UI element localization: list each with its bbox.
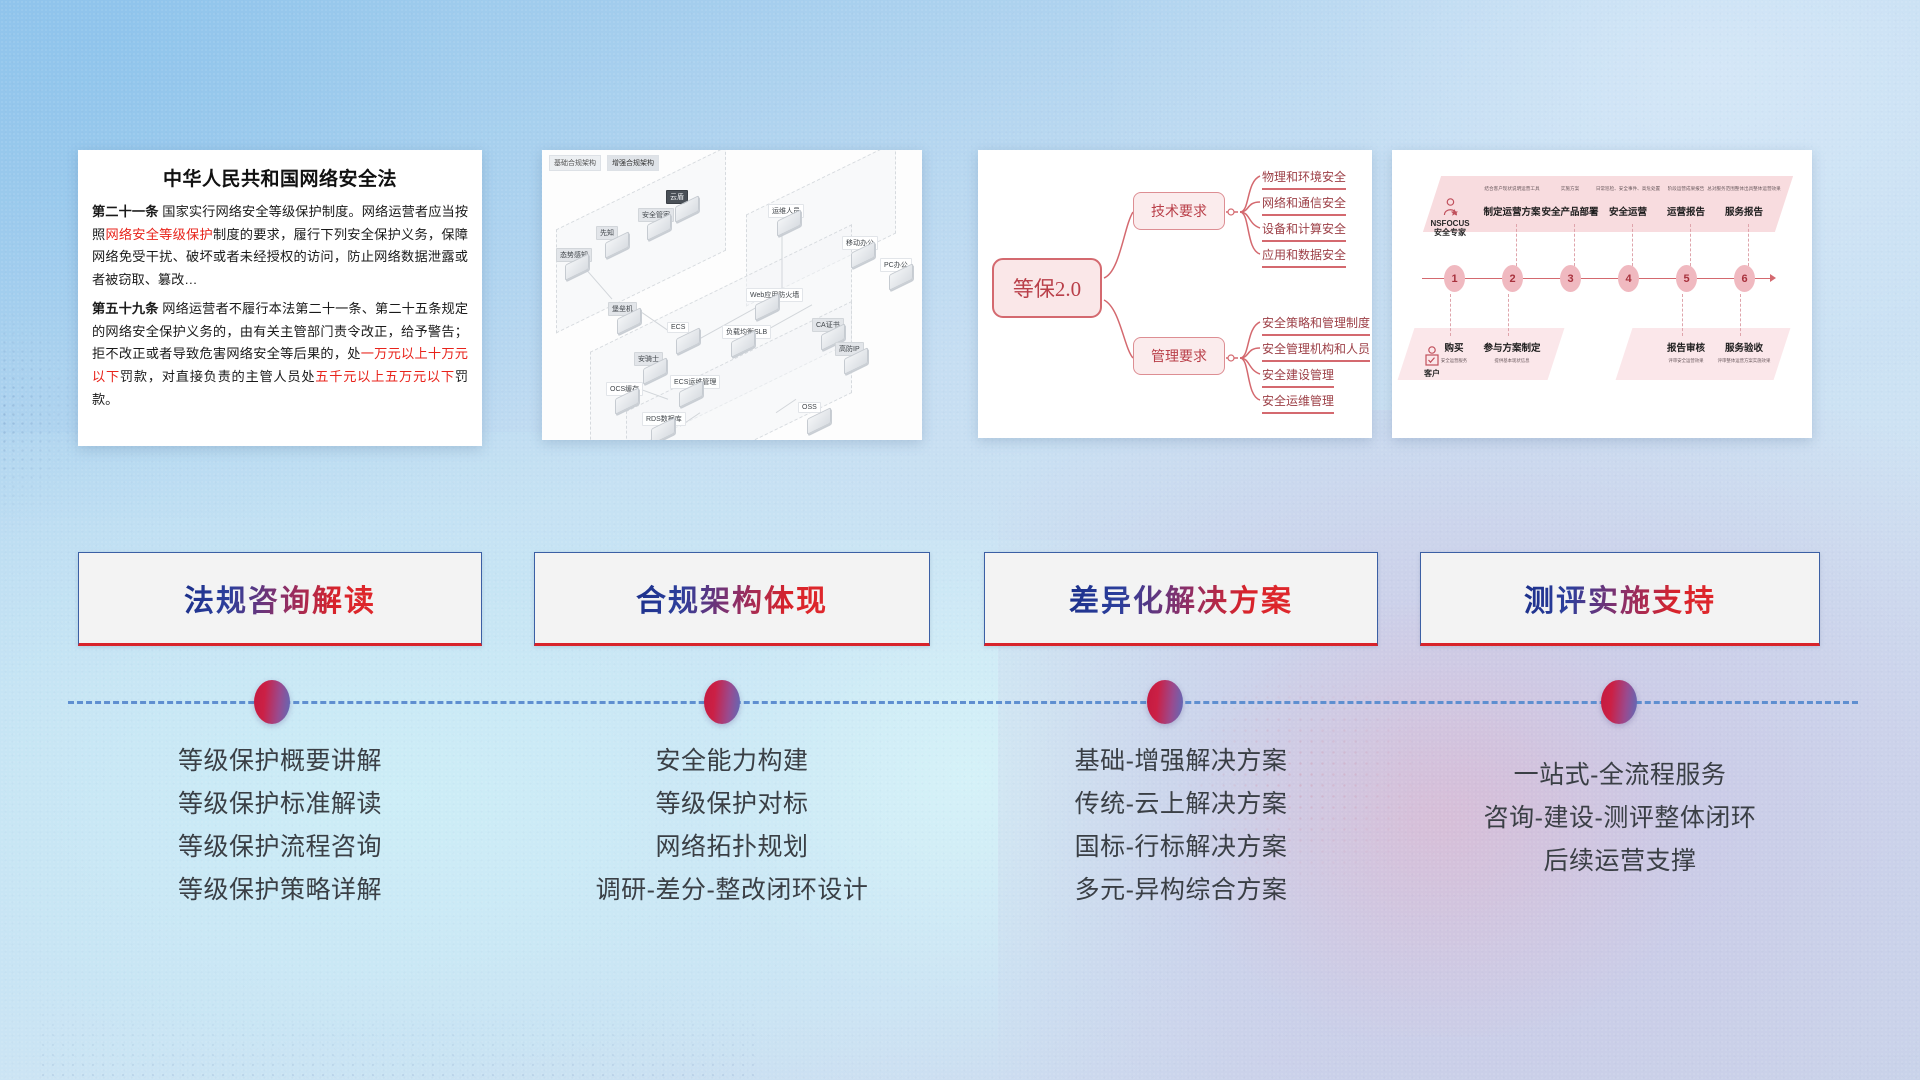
- nsfocus-step-top-sublabel: 日常巡检、安全事件、高危处置: [1596, 186, 1660, 192]
- architecture-node: OCS缓存: [606, 382, 639, 409]
- architecture-node: OSS: [798, 402, 831, 429]
- nsfocus-step-marker-6[interactable]: 6: [1734, 265, 1755, 292]
- architecture-tab-2[interactable]: 增强合规架构: [607, 155, 659, 171]
- timeline-dot-2[interactable]: [704, 680, 740, 724]
- section-item: 调研-差分-整改闭环设计: [534, 869, 930, 912]
- nsfocus-step-top-label: 安全运营: [1609, 204, 1647, 218]
- nsfocus-timeline-axis: [1422, 278, 1772, 279]
- customer-person-icon: [1423, 346, 1441, 366]
- architecture-node-label: OSS: [798, 402, 821, 413]
- nsfocus-step-top-label: 服务报告: [1725, 204, 1763, 218]
- section-item: 等级保护概要讲解: [78, 740, 482, 783]
- nsfocus-step-bottom-label: 参与方案制定: [1483, 340, 1540, 354]
- nsfocus-step-connector-bottom: [1450, 294, 1451, 336]
- nsfocus-timeline-arrow-icon: [1770, 274, 1776, 282]
- law-highlight-text: 网络安全等级保护: [105, 227, 213, 242]
- architecture-canvas: 态势感知先知安全管家堡垒机云盾运维人员移动办公PC办公Web应用防火墙CA证书高…: [550, 170, 914, 432]
- timeline-dashed-line: [68, 701, 1858, 704]
- mindmap-leaf: 安全运维管理: [1262, 392, 1334, 414]
- nsfocus-step-connector-top: [1690, 224, 1691, 266]
- nsfocus-step-marker-3[interactable]: 3: [1560, 265, 1581, 292]
- card-mindmap-dengbao: 等保2.0 技术要求物理和环境安全网络和通信安全设备和计算安全应用和数据安全管理…: [978, 150, 1372, 438]
- mindmap-node-dot-tech: [1228, 209, 1234, 215]
- nsfocus-step-connector-bottom: [1682, 294, 1683, 336]
- architecture-tab-1[interactable]: 基础合规架构: [549, 155, 601, 171]
- section-title-label-1: 法规咨询解读: [184, 576, 376, 620]
- section-title-box-3[interactable]: 差异化解决方案: [984, 552, 1378, 646]
- section-items-column-4: 一站式-全流程服务咨询-建设-测评整体闭环后续运营支撑: [1420, 754, 1820, 883]
- law-card-title: 中华人民共和国网络安全法: [78, 150, 482, 201]
- nsfocus-customer-actor-label: 客户: [1423, 369, 1441, 379]
- timeline-dot-4[interactable]: [1601, 680, 1637, 724]
- law-paragraph: 第二十一条 国家实行网络安全等级保护制度。网络运营者应当按照网络安全等级保护制度…: [92, 201, 468, 292]
- nsfocus-customer-actor: 客户: [1423, 346, 1441, 378]
- nsfocus-customer-band-right: [1616, 328, 1791, 380]
- card-nsfocus-service-flow: NSFOCUS 安全专家 客户 1购买安全运营服务结合客户现状说明运营工具制定运…: [1392, 150, 1812, 438]
- nsfocus-expert-actor-label-1: NSFOCUS: [1430, 219, 1469, 229]
- nsfocus-step-top-label: 安全产品部署: [1541, 204, 1598, 218]
- nsfocus-step-marker-5[interactable]: 5: [1676, 265, 1697, 292]
- architecture-diagram: 基础合规架构增强合规架构: [542, 150, 922, 440]
- nsfocus-step-top-sublabel: 总对服务范围整体出具整体运营效果: [1707, 186, 1781, 192]
- section-item: 安全能力构建: [534, 740, 930, 783]
- law-text: 罚款，对直接负责的主管人员处: [120, 369, 315, 384]
- section-item: 咨询-建设-测评整体闭环: [1420, 797, 1820, 840]
- mindmap-node-dot-mgmt: [1228, 355, 1234, 361]
- law-highlight-text: 五千元以上五万元以下: [315, 369, 455, 384]
- nsfocus-step-bottom-sublabel: 提供基本现状信息: [1494, 358, 1529, 364]
- architecture-node: 高防IP: [835, 342, 868, 369]
- section-items-column-2: 安全能力构建等级保护对标网络拓扑规划调研-差分-整改闭环设计: [534, 740, 930, 912]
- law-article-number: 第五十九条: [92, 301, 159, 316]
- mindmap-leaf: 应用和数据安全: [1262, 246, 1346, 268]
- nsfocus-step-connector-top: [1516, 224, 1517, 266]
- nsfocus-expert-actor-label-2: 安全专家: [1430, 228, 1469, 238]
- expert-person-icon: [1440, 198, 1460, 216]
- section-title-label-3: 差异化解决方案: [1069, 576, 1293, 620]
- architecture-tab-group: 基础合规架构增强合规架构: [549, 155, 659, 171]
- section-items-row: 等级保护概要讲解等级保护标准解读等级保护流程咨询等级保护策略详解 安全能力构建等…: [0, 740, 1920, 1020]
- nsfocus-flow-diagram: NSFOCUS 安全专家 客户 1购买安全运营服务结合客户现状说明运营工具制定运…: [1392, 150, 1812, 438]
- slide-stage: 中华人民共和国网络安全法 第二十一条 国家实行网络安全等级保护制度。网络运营者应…: [0, 0, 1920, 1080]
- nsfocus-step-marker-4[interactable]: 4: [1618, 265, 1639, 292]
- law-card-body: 第二十一条 国家实行网络安全等级保护制度。网络运营者应当按照网络安全等级保护制度…: [78, 201, 482, 421]
- architecture-node: ECS运维管理: [670, 375, 703, 402]
- nsfocus-expert-actor: NSFOCUS 安全专家: [1430, 198, 1469, 238]
- nsfocus-step-top-label: 运营报告: [1667, 204, 1705, 218]
- section-item: 基础-增强解决方案: [984, 740, 1378, 783]
- section-item: 等级保护流程咨询: [78, 826, 482, 869]
- nsfocus-step-connector-bottom: [1508, 294, 1509, 336]
- section-item: 国标-行标解决方案: [984, 826, 1378, 869]
- section-item: 多元-异构综合方案: [984, 869, 1378, 912]
- mindmap-branch-2: 管理要求: [1133, 337, 1225, 375]
- nsfocus-step-connector-bottom: [1740, 294, 1741, 336]
- nsfocus-step-connector-top: [1748, 224, 1749, 266]
- nsfocus-step-bottom-label: 服务验收: [1725, 340, 1763, 354]
- mindmap-root-node: 等保2.0: [992, 258, 1102, 318]
- architecture-node: 态势感知: [556, 248, 589, 275]
- nsfocus-step-bottom-sublabel: 安全运营服务: [1441, 358, 1467, 364]
- mindmap-leaf: 设备和计算安全: [1262, 220, 1346, 242]
- nsfocus-step-connector-top: [1574, 224, 1575, 266]
- architecture-node: 运维人员: [768, 204, 801, 231]
- architecture-node-label: ECS: [667, 322, 689, 333]
- section-title-box-1[interactable]: 法规咨询解读: [78, 552, 482, 646]
- nsfocus-step-marker-2[interactable]: 2: [1502, 265, 1523, 292]
- mindmap-leaf: 安全策略和管理制度: [1262, 314, 1370, 336]
- section-title-label-4: 测评实施支持: [1524, 576, 1716, 620]
- law-paragraph: 第五十九条 网络运营者不履行本法第二十一条、第二十五条规定的网络安全保护义务的，…: [92, 298, 468, 412]
- mindmap-leaf: 安全管理机构和人员: [1262, 340, 1370, 362]
- mindmap-diagram: 等保2.0 技术要求物理和环境安全网络和通信安全设备和计算安全应用和数据安全管理…: [978, 150, 1372, 438]
- timeline-dot-1[interactable]: [254, 680, 290, 724]
- nsfocus-step-top-sublabel: 结合客户现状说明运营工具: [1484, 186, 1539, 192]
- section-title-label-2: 合规架构体现: [636, 576, 828, 620]
- section-item: 一站式-全流程服务: [1420, 754, 1820, 797]
- section-item: 等级保护标准解读: [78, 783, 482, 826]
- architecture-connector-lines: [550, 170, 914, 432]
- architecture-node: 移动办公: [842, 236, 875, 263]
- nsfocus-step-top-label: 制定运营方案: [1483, 204, 1540, 218]
- section-item: 网络拓扑规划: [534, 826, 930, 869]
- section-item: 等级保护策略详解: [78, 869, 482, 912]
- section-items-column-1: 等级保护概要讲解等级保护标准解读等级保护流程咨询等级保护策略详解: [78, 740, 482, 912]
- timeline-row: [0, 680, 1920, 724]
- architecture-node: ECS: [667, 322, 700, 349]
- nsfocus-step-top-sublabel: 实施方案: [1561, 186, 1579, 192]
- mindmap-branch-1: 技术要求: [1133, 192, 1225, 230]
- mindmap-leaf: 网络和通信安全: [1262, 194, 1346, 216]
- nsfocus-step-connector-top: [1632, 224, 1633, 266]
- architecture-node: 先知: [596, 226, 629, 253]
- architecture-node: CA证书: [812, 318, 845, 345]
- section-item: 传统-云上解决方案: [984, 783, 1378, 826]
- law-article-number: 第二十一条: [92, 204, 159, 219]
- section-title-row: 法规咨询解读 合规架构体现 差异化解决方案 测评实施支持: [0, 552, 1920, 648]
- section-item: 等级保护对标: [534, 783, 930, 826]
- architecture-node: 安骑士: [634, 352, 667, 379]
- architecture-node: PC办公: [880, 258, 913, 285]
- nsfocus-step-bottom-label: 购买: [1444, 340, 1463, 354]
- illustration-card-row: 中华人民共和国网络安全法 第二十一条 国家实行网络安全等级保护制度。网络运营者应…: [0, 150, 1920, 445]
- nsfocus-step-marker-1[interactable]: 1: [1444, 265, 1465, 292]
- card-cybersecurity-law: 中华人民共和国网络安全法 第二十一条 国家实行网络安全等级保护制度。网络运营者应…: [78, 150, 482, 446]
- architecture-node: 负载均衡SLB: [722, 325, 755, 352]
- nsfocus-step-bottom-sublabel: 评审整体运营方案实施效果: [1718, 358, 1771, 364]
- nsfocus-step-bottom-sublabel: 评审安全运营效果: [1668, 358, 1703, 364]
- timeline-dot-3[interactable]: [1147, 680, 1183, 724]
- nsfocus-step-top-sublabel: 阶段运营成果报告: [1668, 186, 1705, 192]
- section-title-box-2[interactable]: 合规架构体现: [534, 552, 930, 646]
- section-items-column-3: 基础-增强解决方案传统-云上解决方案国标-行标解决方案多元-异构综合方案: [984, 740, 1378, 912]
- architecture-node: RDS数据库: [642, 412, 675, 439]
- mindmap-leaf: 安全建设管理: [1262, 366, 1334, 388]
- architecture-node: Web应用防火墙: [746, 288, 779, 315]
- architecture-node: 堡垒机: [608, 302, 641, 329]
- mindmap-leaf: 物理和环境安全: [1262, 168, 1346, 190]
- card-compliance-architecture: 基础合规架构增强合规架构: [542, 150, 922, 440]
- architecture-node: 云盾: [666, 190, 699, 217]
- section-title-box-4[interactable]: 测评实施支持: [1420, 552, 1820, 646]
- nsfocus-step-bottom-label: 报告审核: [1667, 340, 1705, 354]
- section-item: 后续运营支撑: [1420, 840, 1820, 883]
